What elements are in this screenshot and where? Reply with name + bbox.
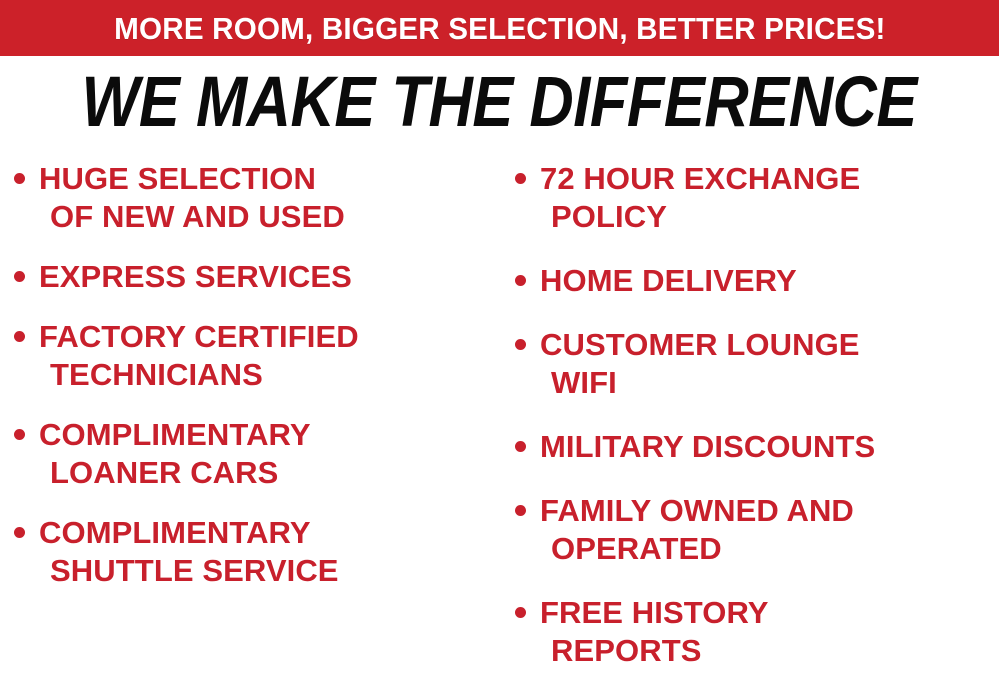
list-item-line: HUGE SELECTION	[39, 160, 505, 198]
list-item: FREE HISTORYREPORTS	[515, 594, 999, 670]
list-item-line: FACTORY CERTIFIED	[39, 318, 505, 356]
list-item: MILITARY DISCOUNTS	[515, 428, 999, 466]
bullet-dot-icon	[14, 271, 25, 282]
list-item-line: EXPRESS SERVICES	[39, 258, 505, 296]
list-item-line: FAMILY OWNED AND	[540, 492, 999, 530]
list-item-line: TECHNICIANS	[39, 356, 505, 394]
bullet-dot-icon	[14, 173, 25, 184]
list-item: COMPLIMENTARYSHUTTLE SERVICE	[14, 514, 505, 590]
list-item-line: 72 HOUR EXCHANGE	[540, 160, 999, 198]
list-item-line: CUSTOMER LOUNGE	[540, 326, 999, 364]
list-item-line: LOANER CARS	[39, 454, 505, 492]
bullet-dot-icon	[515, 607, 526, 618]
list-item-text: FACTORY CERTIFIEDTECHNICIANS	[39, 318, 505, 394]
list-item: 72 HOUR EXCHANGEPOLICY	[515, 160, 999, 236]
list-item-text: MILITARY DISCOUNTS	[540, 428, 999, 466]
list-item-text: COMPLIMENTARYLOANER CARS	[39, 416, 505, 492]
list-item: COMPLIMENTARYLOANER CARS	[14, 416, 505, 492]
bullet-dot-icon	[14, 331, 25, 342]
list-item-line: SHUTTLE SERVICE	[39, 552, 505, 590]
list-item: HOME DELIVERY	[515, 262, 999, 300]
page-title: WE MAKE THE DIFFERENCE	[82, 65, 917, 136]
top-banner: MORE ROOM, BIGGER SELECTION, BETTER PRIC…	[0, 0, 999, 56]
list-item-line: REPORTS	[540, 632, 999, 670]
list-item-line: OPERATED	[540, 530, 999, 568]
list-item-line: WIFI	[540, 364, 999, 402]
list-item-line: COMPLIMENTARY	[39, 416, 505, 454]
list-item-text: FAMILY OWNED ANDOPERATED	[540, 492, 999, 568]
list-item: HUGE SELECTIONOF NEW AND USED	[14, 160, 505, 236]
bullet-dot-icon	[14, 429, 25, 440]
list-item-line: HOME DELIVERY	[540, 262, 999, 300]
list-item-text: HUGE SELECTIONOF NEW AND USED	[39, 160, 505, 236]
bullet-dot-icon	[515, 441, 526, 452]
bullet-dot-icon	[515, 505, 526, 516]
bullet-dot-icon	[14, 527, 25, 538]
list-item-line: OF NEW AND USED	[39, 198, 505, 236]
benefits-columns: HUGE SELECTIONOF NEW AND USEDEXPRESS SER…	[0, 150, 999, 692]
list-item-text: CUSTOMER LOUNGEWIFI	[540, 326, 999, 402]
bullet-dot-icon	[515, 173, 526, 184]
benefits-column-left: HUGE SELECTIONOF NEW AND USEDEXPRESS SER…	[0, 150, 505, 612]
list-item: EXPRESS SERVICES	[14, 258, 505, 296]
list-item-text: HOME DELIVERY	[540, 262, 999, 300]
list-item-text: EXPRESS SERVICES	[39, 258, 505, 296]
list-item-line: POLICY	[540, 198, 999, 236]
list-item: FAMILY OWNED ANDOPERATED	[515, 492, 999, 568]
benefits-column-right: 72 HOUR EXCHANGEPOLICYHOME DELIVERYCUSTO…	[505, 150, 999, 696]
headline-container: WE MAKE THE DIFFERENCE	[0, 62, 999, 140]
list-item-line: FREE HISTORY	[540, 594, 999, 632]
promo-poster: MORE ROOM, BIGGER SELECTION, BETTER PRIC…	[0, 0, 999, 692]
list-item-line: MILITARY DISCOUNTS	[540, 428, 999, 466]
list-item: FACTORY CERTIFIEDTECHNICIANS	[14, 318, 505, 394]
top-banner-text: MORE ROOM, BIGGER SELECTION, BETTER PRIC…	[114, 13, 885, 44]
list-item-text: FREE HISTORYREPORTS	[540, 594, 999, 670]
list-item: CUSTOMER LOUNGEWIFI	[515, 326, 999, 402]
list-item-line: COMPLIMENTARY	[39, 514, 505, 552]
list-item-text: COMPLIMENTARYSHUTTLE SERVICE	[39, 514, 505, 590]
bullet-dot-icon	[515, 275, 526, 286]
list-item-text: 72 HOUR EXCHANGEPOLICY	[540, 160, 999, 236]
bullet-dot-icon	[515, 339, 526, 350]
